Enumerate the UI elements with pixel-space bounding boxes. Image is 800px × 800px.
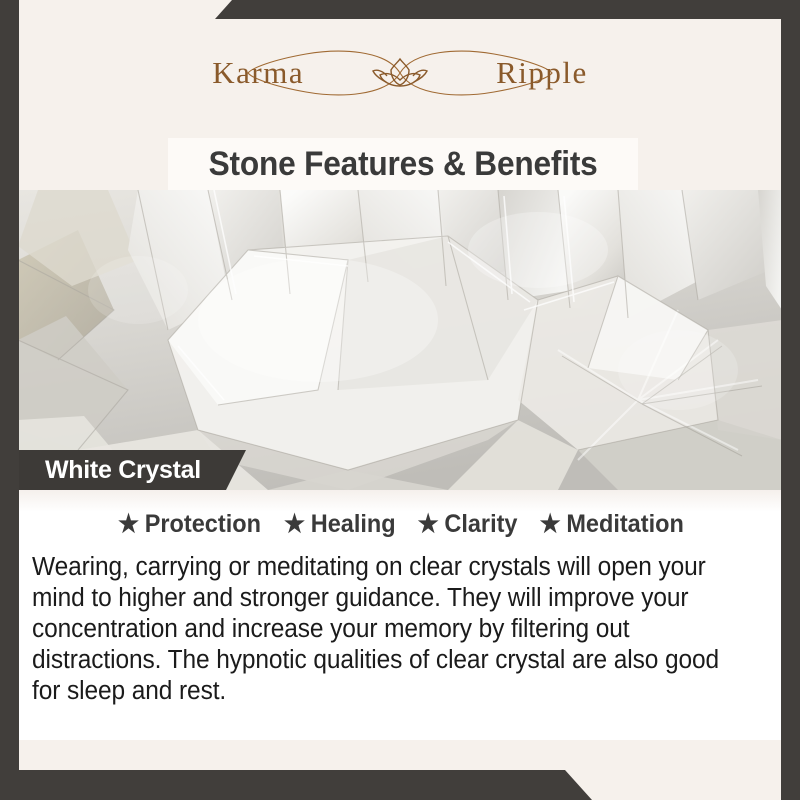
- benefit-item: ★ Clarity: [417, 512, 531, 537]
- infographic-card: Karma Ripple Stone Features & Benefits: [0, 0, 800, 800]
- star-icon: ★: [417, 512, 438, 537]
- star-icon: ★: [284, 512, 305, 537]
- benefit-label: Meditation: [566, 512, 684, 537]
- stone-name-text: White Crystal: [18, 458, 201, 483]
- benefit-item: ★ Protection: [118, 512, 275, 537]
- benefits-list: ★ Protection ★ Healing ★ Clarity ★ Medit…: [19, 512, 782, 537]
- panel-top-fade: [19, 490, 782, 512]
- benefit-item: ★ Healing: [284, 512, 410, 537]
- frame-bottom-band: [0, 770, 592, 800]
- crystal-cluster-image: [18, 190, 782, 490]
- page-title-banner: Stone Features & Benefits: [168, 138, 638, 190]
- benefit-label: Healing: [311, 512, 396, 537]
- lotus-infinity-icon: [190, 42, 610, 104]
- page-title: Stone Features & Benefits: [209, 147, 598, 181]
- benefit-item: ★ Meditation: [539, 512, 683, 537]
- stone-name-label: White Crystal: [18, 450, 246, 490]
- star-icon: ★: [539, 512, 560, 537]
- frame-top-band: [215, 0, 800, 19]
- frame-left-band: [0, 0, 19, 800]
- star-icon: ★: [118, 512, 139, 537]
- benefit-label: Protection: [145, 512, 261, 537]
- frame-right-band: [781, 0, 800, 800]
- stone-description: Wearing, carrying or meditating on clear…: [32, 552, 740, 707]
- brand-logo: [0, 42, 800, 104]
- stone-photo: [18, 190, 782, 490]
- content-panel: ★ Protection ★ Healing ★ Clarity ★ Medit…: [19, 490, 782, 740]
- benefit-label: Clarity: [444, 512, 517, 537]
